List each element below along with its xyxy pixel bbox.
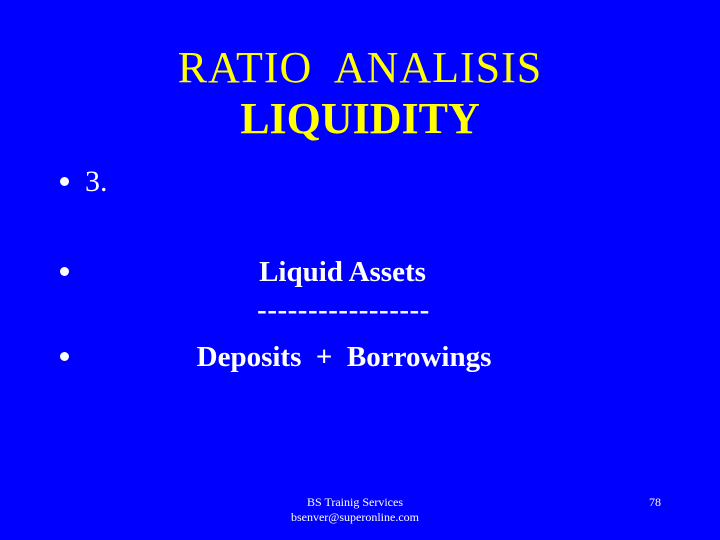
title-line-primary: RATIO ANALISIS (0, 42, 720, 94)
footer-credit-label: BS Trainig Services (0, 495, 720, 510)
slide-footer: BS Trainig Services bsenver@superonline.… (0, 495, 720, 525)
slide-title: RATIO ANALISIS LIQUIDITY (0, 42, 720, 144)
bullet-item-number-label: 3. (85, 162, 108, 202)
bullet-point-icon (60, 177, 69, 186)
title-line-secondary: LIQUIDITY (0, 94, 720, 144)
formula-denominator-label: Deposits + Borrowings (0, 337, 720, 377)
bullet-item-numerator: Liquid Assets (0, 252, 720, 292)
slide-canvas: RATIO ANALISIS LIQUIDITY 3. Liquid Asset… (0, 0, 720, 540)
bullet-item-number: 3. (0, 162, 720, 202)
footer-email-label: bsenver@superonline.com (0, 510, 720, 525)
formula-numerator-label: Liquid Assets (0, 252, 720, 292)
formula-divider-line: ----------------- (0, 296, 720, 324)
bullet-item-denominator: Deposits + Borrowings (0, 337, 720, 377)
slide-page-number: 78 (640, 495, 670, 510)
